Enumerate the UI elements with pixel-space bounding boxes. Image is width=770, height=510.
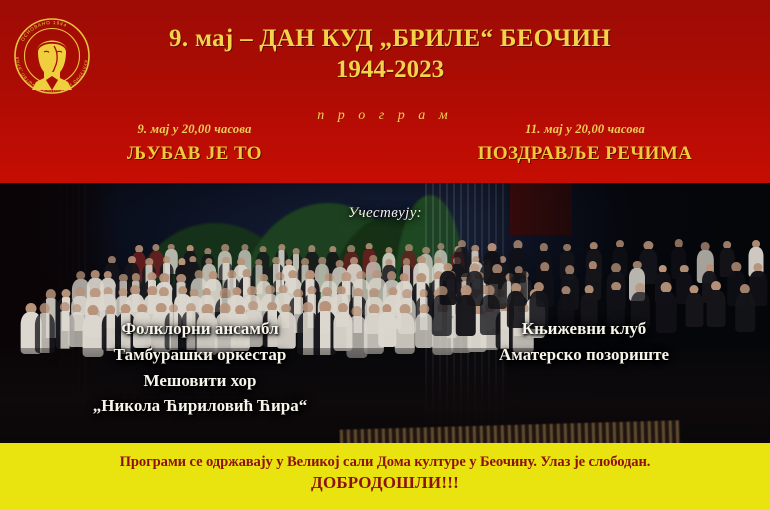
poster-title-line1: 9. мај – ДАН КУД „БРИЛЕ“ БЕОЧИН (110, 24, 670, 54)
event-2-title: ПОЗДРАВЉЕ РЕЧИМА (450, 143, 720, 165)
footer-welcome: ДОБРОДОШЛИ!!! (0, 473, 770, 493)
kud-brile-emblem-logo: ОСНОВАНО 1944 КУЛТУРНО УМЕТНИЧКО ДРУШТВО… (10, 14, 94, 98)
group-name: Фолклорни ансамбл (40, 316, 360, 342)
poster-title-years: 1944-2023 (110, 54, 670, 87)
performer-body (415, 313, 433, 349)
group-name: Аматерско позориште (434, 342, 734, 368)
participant-groups-left: Фолклорни ансамбл Тамбурашки оркестар Ме… (40, 316, 360, 419)
poster-footer: Програми се одржавају у Великој сали Дом… (0, 443, 770, 510)
performer-figure (415, 304, 433, 349)
group-name: Тамбурашки оркестар (40, 342, 360, 368)
group-name: „Никола Ћириловић Ћира“ (40, 393, 360, 419)
participant-groups-right: Књижевни клуб Аматерско позориште (434, 316, 734, 368)
poster-title-block: 9. мај – ДАН КУД „БРИЛЕ“ БЕОЧИН 1944-202… (110, 24, 670, 86)
performer-body (735, 293, 755, 332)
emblem-svg: ОСНОВАНО 1944 КУЛТУРНО УМЕТНИЧКО ДРУШТВО… (10, 14, 94, 98)
participants-label: Учествују: (0, 205, 770, 222)
footer-venue-note: Програми се одржавају у Великој сали Дом… (0, 443, 770, 471)
event-2-datetime: 11. мај у 20,00 часова (450, 122, 720, 137)
performer-figure (735, 284, 755, 333)
poster-root: ОСНОВАНО 1944 КУЛТУРНО УМЕТНИЧКО ДРУШТВО… (0, 0, 770, 510)
event-entry-2: 11. мај у 20,00 часова ПОЗДРАВЉЕ РЕЧИМА (450, 122, 720, 165)
event-1-datetime: 9. мај у 20,00 часова (92, 122, 297, 137)
event-entry-1: 9. мај у 20,00 часова ЉУБАВ ЈЕ ТО (92, 122, 297, 165)
emblem-top-text: ОСНОВАНО 1944 (20, 20, 68, 42)
event-1-title: ЉУБАВ ЈЕ ТО (92, 143, 297, 165)
performer-body (378, 312, 396, 347)
group-name: Књижевни клуб (434, 316, 734, 342)
performance-photo: Учествују: Фолклорни ансамбл Тамбурашки … (0, 183, 770, 443)
poster-header: ОСНОВАНО 1944 КУЛТУРНО УМЕТНИЧКО ДРУШТВО… (0, 0, 770, 183)
svg-text:ОСНОВАНО 1944: ОСНОВАНО 1944 (20, 20, 68, 42)
group-name: Мешовити хор (40, 368, 360, 394)
performer-figure (378, 304, 396, 348)
